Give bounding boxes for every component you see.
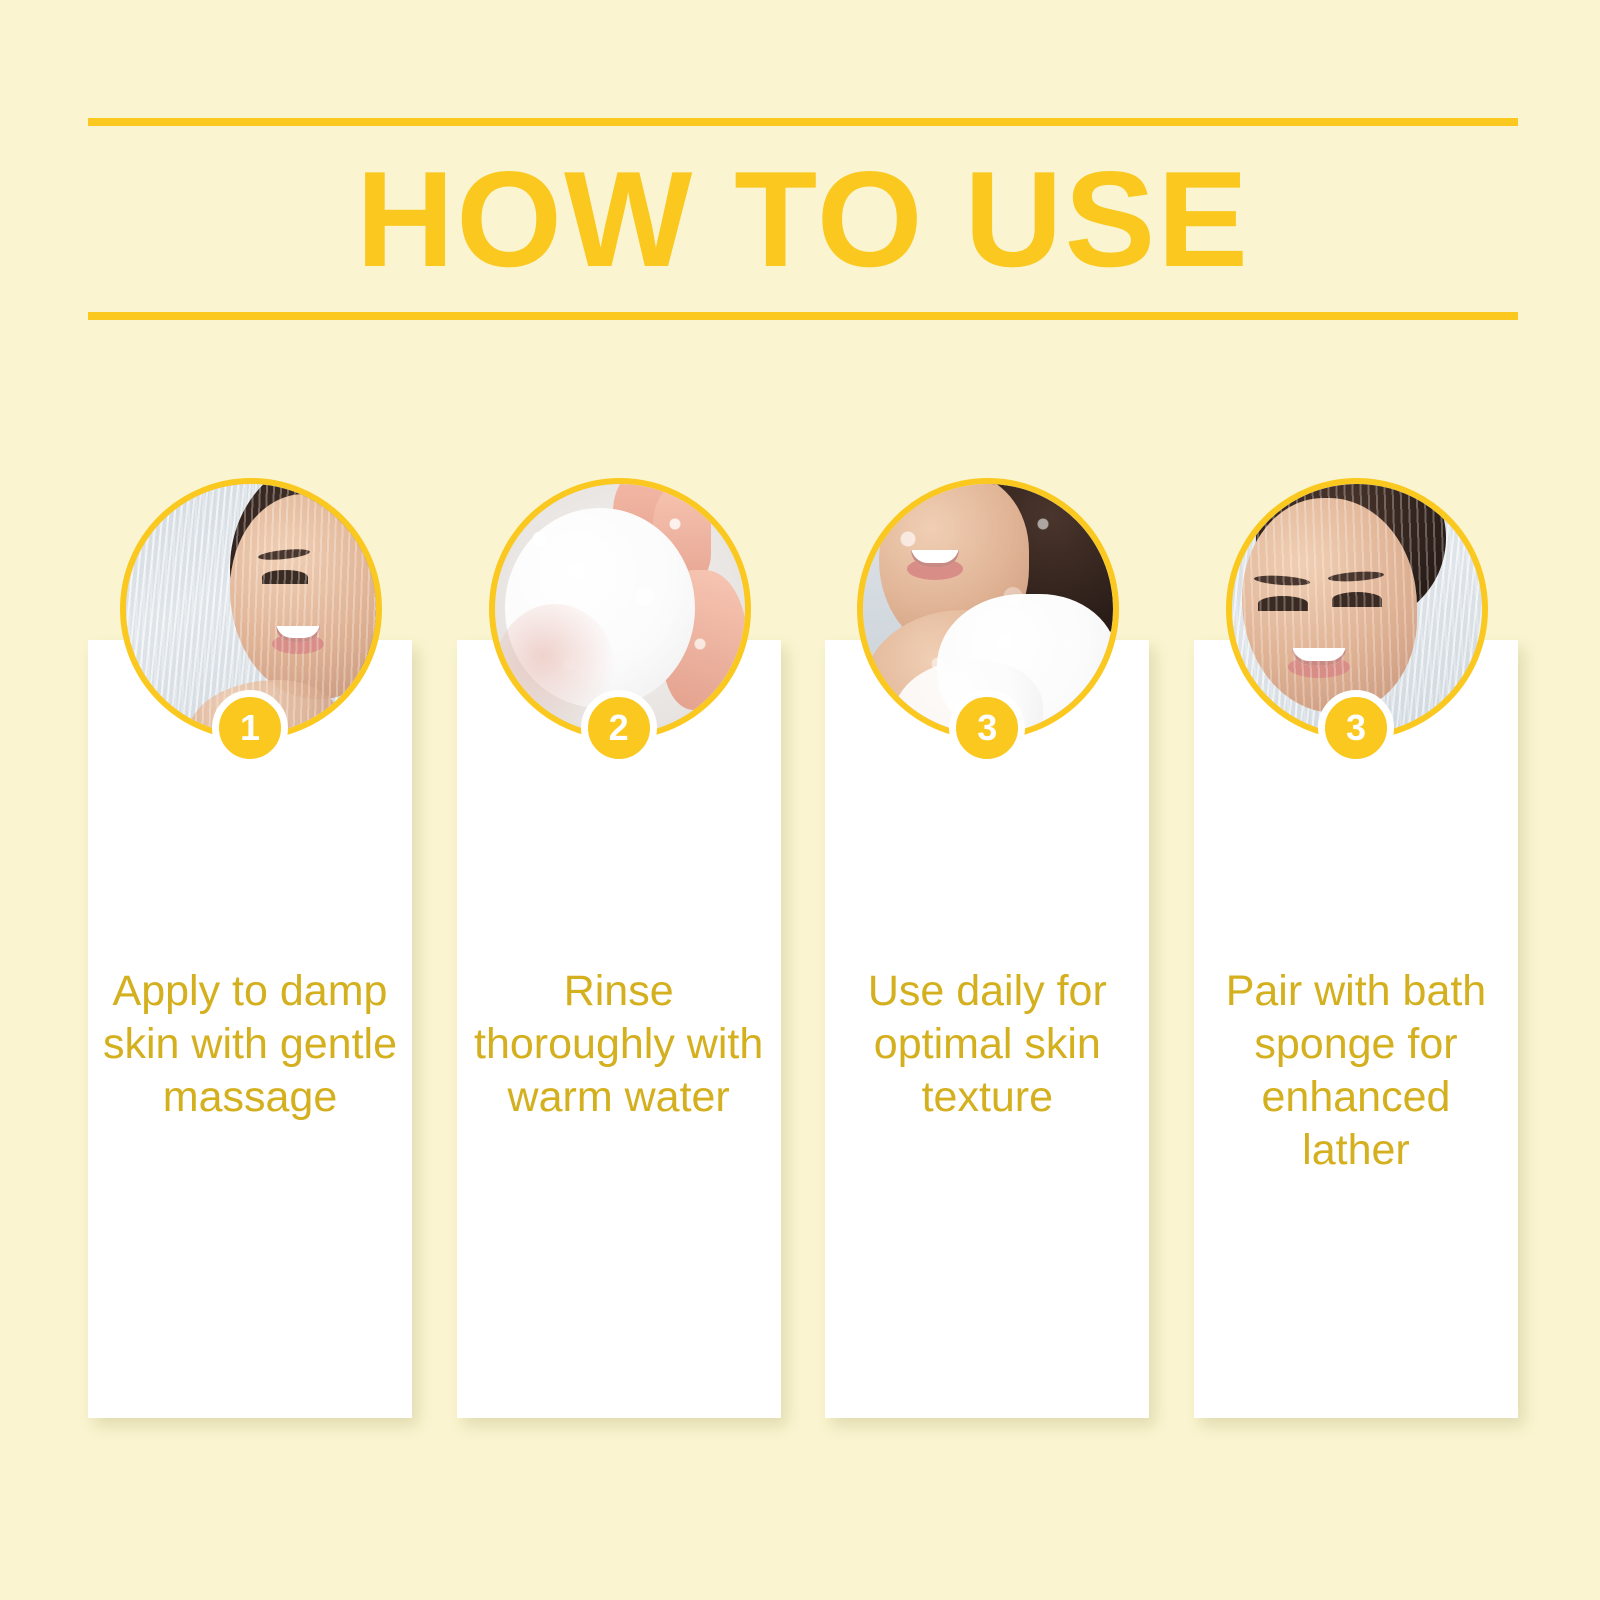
infographic-canvas: HOW TO USE Apply to damp skin with gentl… xyxy=(0,0,1600,1600)
header: HOW TO USE xyxy=(88,118,1518,320)
step-card-3[interactable]: Use daily for optimal skin texture 3 xyxy=(825,478,1149,1438)
step-number-badge: 1 xyxy=(212,690,288,766)
step-card-4[interactable]: Pair with bath sponge for enhanced lathe… xyxy=(1194,478,1518,1438)
steps-row: Apply to damp skin with gentle massage 1 xyxy=(88,478,1518,1438)
title-rule-top xyxy=(88,118,1518,126)
step-card-1[interactable]: Apply to damp skin with gentle massage 1 xyxy=(88,478,412,1438)
step-description: Pair with bath sponge for enhanced lathe… xyxy=(1208,965,1504,1177)
step-description: Rinse thoroughly with warm water xyxy=(471,965,767,1124)
step-card-2[interactable]: Rinse thoroughly with warm water 2 xyxy=(457,478,781,1438)
step-number-badge: 2 xyxy=(581,690,657,766)
step-number-badge: 3 xyxy=(949,690,1025,766)
step-description: Use daily for optimal skin texture xyxy=(839,965,1135,1124)
step-description: Apply to damp skin with gentle massage xyxy=(102,965,398,1124)
page-title: HOW TO USE xyxy=(88,135,1518,303)
title-rule-bottom xyxy=(88,312,1518,320)
step-number-badge: 3 xyxy=(1318,690,1394,766)
